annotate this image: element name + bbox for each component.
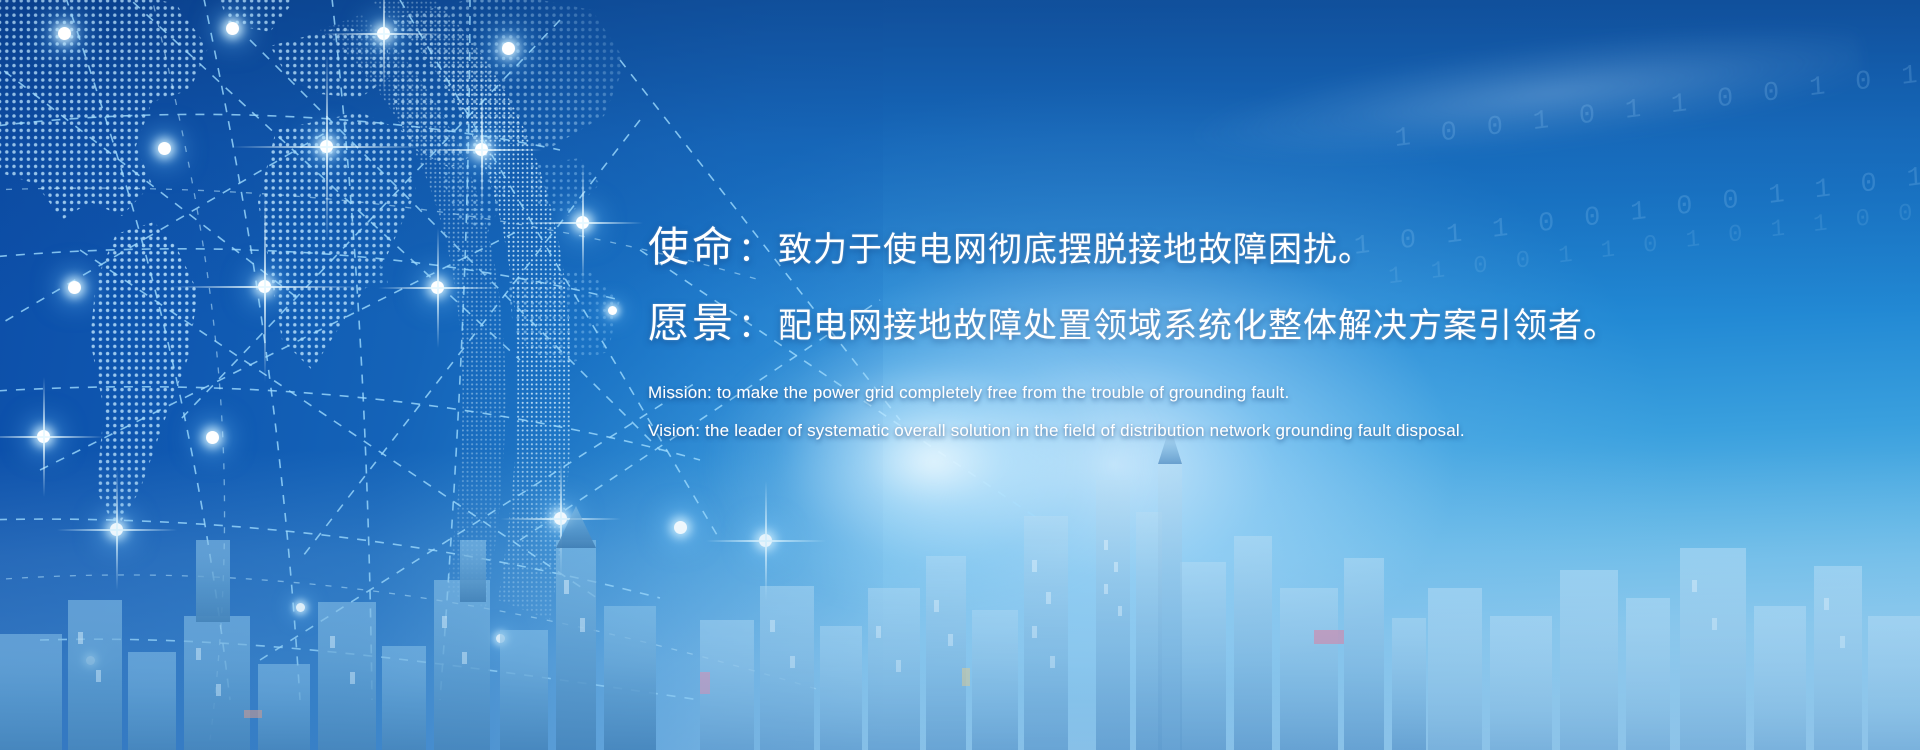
mission-text-cn: 致力于使电网彻底摆脱接地故障困扰。 <box>778 222 1373 271</box>
atmospheric-haze <box>0 450 1920 750</box>
network-node-star <box>431 281 444 294</box>
mission-text-en: Mission: to make the power grid complete… <box>648 383 1888 403</box>
network-node-star <box>258 280 271 293</box>
vision-label-cn: 愿景 <box>648 289 736 349</box>
vision-colon: ： <box>736 298 778 347</box>
network-node-star <box>320 140 333 153</box>
network-node <box>502 42 515 55</box>
network-node-star <box>377 27 390 40</box>
vision-line-chinese: 愿景 ： 配电网接地故障处置领域系统化整体解决方案引领者。 <box>648 289 1888 349</box>
network-node <box>226 22 239 35</box>
network-node-star <box>576 216 589 229</box>
vision-text-en: Vision: the leader of systematic overall… <box>648 421 1888 441</box>
network-node <box>68 281 81 294</box>
vision-text-cn: 配电网接地故障处置领域系统化整体解决方案引领者。 <box>778 298 1618 347</box>
network-node <box>206 431 219 444</box>
network-node-star <box>37 430 50 443</box>
mission-vision-copy: 使命 ： 致力于使电网彻底摆脱接地故障困扰。 愿景 ： 配电网接地故障处置领域系… <box>648 213 1888 441</box>
network-node <box>158 142 171 155</box>
mission-line-chinese: 使命 ： 致力于使电网彻底摆脱接地故障困扰。 <box>648 213 1888 273</box>
network-node <box>58 27 71 40</box>
mission-label-cn: 使命 <box>648 213 736 273</box>
mission-vision-banner: 1 0 0 1 0 1 1 0 0 1 0 1 1 0 1 1 0 0 1 0 … <box>0 0 1920 750</box>
mission-colon: ： <box>736 222 778 271</box>
network-node-star <box>475 143 488 156</box>
